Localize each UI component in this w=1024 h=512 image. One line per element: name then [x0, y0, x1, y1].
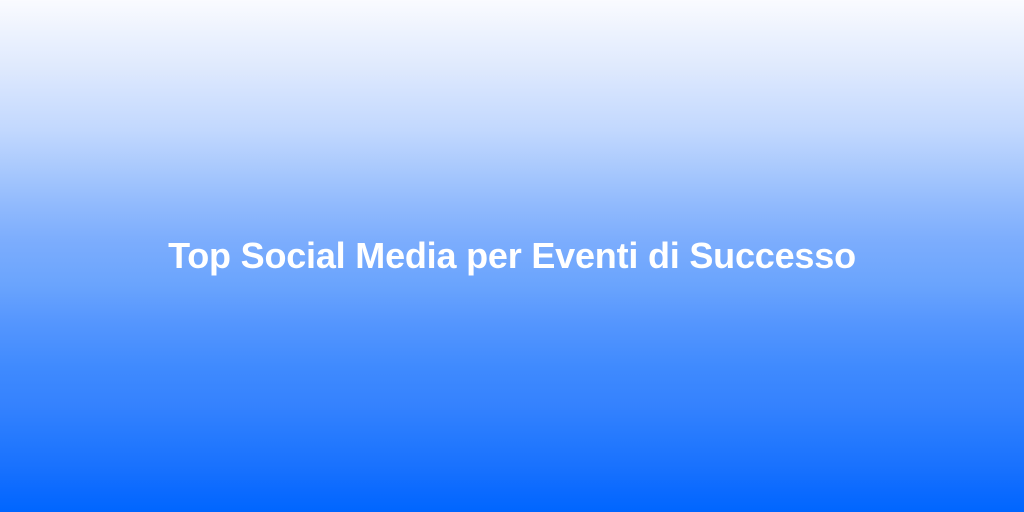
page-title: Top Social Media per Eventi di Successo [168, 238, 856, 274]
hero-banner: Top Social Media per Eventi di Successo [0, 0, 1024, 512]
banner-content: Top Social Media per Eventi di Successo [0, 0, 1024, 512]
